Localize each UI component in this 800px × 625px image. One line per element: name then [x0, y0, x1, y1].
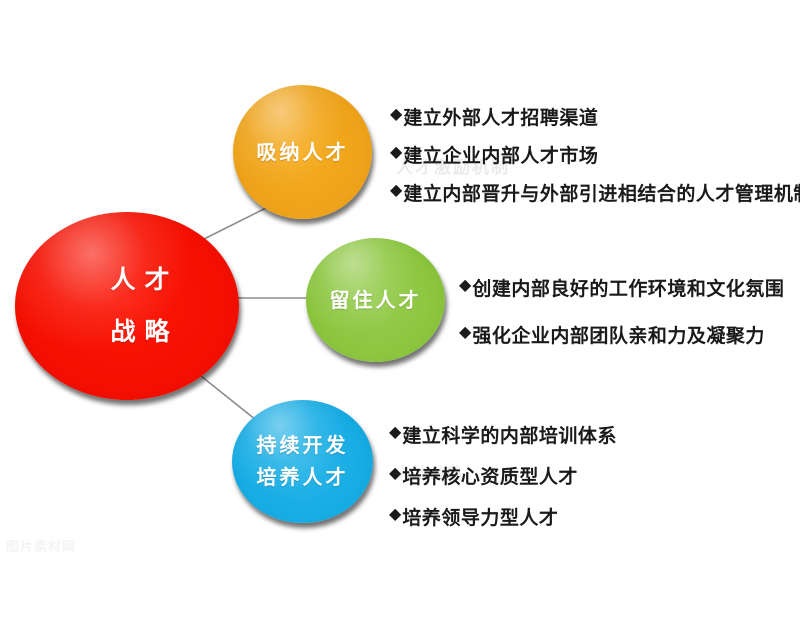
bullet-text: 建立企业内部人才市场: [403, 141, 598, 168]
node-develop-label-line-1: 持续开发: [257, 432, 349, 459]
bullet-list-develop: ◆ 建立科学的内部培训体系 ◆ 培养核心资质型人才 ◆ 培养领导力型人才: [389, 421, 617, 530]
bullet-item: ◆ 创建内部良好的工作环境和文化氛围: [459, 274, 784, 301]
node-retain-talent[interactable]: 留住人才: [306, 238, 445, 362]
connector-core-to-attract: [196, 208, 266, 243]
node-core-label-line-2: 战略: [101, 315, 178, 349]
bullet-list-attract: ◆ 建立外部人才招聘渠道 ◆ 建立企业内部人才市场 ◆ 建立内部晋升与外部引进相…: [390, 103, 800, 206]
bullet-item: ◆ 建立内部晋升与外部引进相结合的人才管理机制: [390, 179, 800, 206]
bullet-item: ◆ 培养领导力型人才: [389, 503, 617, 530]
diagram-canvas: 人才激励机制 人才战略 图片素材网 人才 战略 吸纳人才 留住人才 持续开发 培…: [0, 0, 800, 625]
watermark-corner: 图片素材网: [6, 536, 76, 555]
node-core-talent-strategy[interactable]: 人才 战略: [15, 212, 239, 400]
bullet-text: 创建内部良好的工作环境和文化氛围: [472, 274, 784, 301]
bullet-text: 强化企业内部团队亲和力及凝聚力: [472, 321, 765, 348]
bullet-item: ◆ 建立企业内部人才市场: [390, 141, 800, 168]
node-attract-talent[interactable]: 吸纳人才: [233, 85, 372, 219]
node-develop-label-line-2: 培养人才: [257, 464, 349, 491]
bullet-text: 建立内部晋升与外部引进相结合的人才管理机制: [403, 179, 800, 206]
bullet-item: ◆ 建立外部人才招聘渠道: [390, 103, 800, 130]
connector-core-to-develop: [196, 372, 256, 420]
diamond-bullet-icon: ◆: [389, 465, 401, 481]
node-core-label-line-1: 人才: [101, 263, 178, 297]
bullet-text: 建立外部人才招聘渠道: [403, 103, 598, 130]
node-retain-label: 留住人才: [330, 287, 422, 314]
bullet-item: ◆ 培养核心资质型人才: [389, 462, 617, 489]
bullet-item: ◆ 建立科学的内部培训体系: [389, 421, 617, 448]
diamond-bullet-icon: ◆: [390, 182, 402, 198]
diamond-bullet-icon: ◆: [390, 106, 402, 122]
diamond-bullet-icon: ◆: [459, 324, 471, 340]
diamond-bullet-icon: ◆: [389, 506, 401, 522]
diamond-bullet-icon: ◆: [390, 144, 402, 160]
node-develop-talent[interactable]: 持续开发 培养人才: [232, 400, 373, 523]
bullet-item: ◆ 强化企业内部团队亲和力及凝聚力: [459, 321, 784, 348]
diamond-bullet-icon: ◆: [389, 424, 401, 440]
bullet-text: 培养领导力型人才: [402, 503, 558, 530]
bullet-text: 建立科学的内部培训体系: [402, 421, 617, 448]
node-attract-label: 吸纳人才: [257, 139, 349, 166]
bullet-text: 培养核心资质型人才: [402, 462, 578, 489]
diamond-bullet-icon: ◆: [459, 277, 471, 293]
bullet-list-retain: ◆ 创建内部良好的工作环境和文化氛围 ◆ 强化企业内部团队亲和力及凝聚力: [459, 274, 784, 348]
